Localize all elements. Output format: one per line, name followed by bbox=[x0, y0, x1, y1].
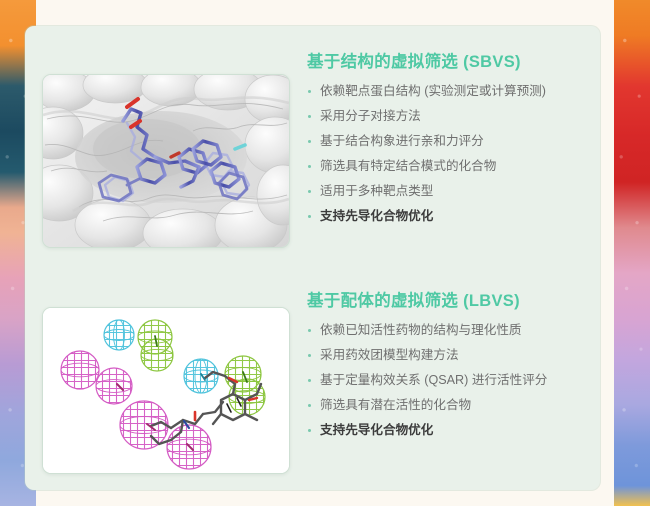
list-item: 采用药效团模型构建方法 bbox=[307, 349, 597, 362]
list-item: 筛选具有特定结合模式的化合物 bbox=[307, 160, 597, 173]
list-item: 适用于多种靶点类型 bbox=[307, 185, 597, 198]
pharmacophore-model-image bbox=[42, 307, 290, 474]
sbvs-heading: 基于结构的虚拟筛选 (SBVS) bbox=[307, 48, 597, 72]
lbvs-heading: 基于配体的虚拟筛选 (LBVS) bbox=[307, 287, 597, 311]
list-item: 采用分子对接方法 bbox=[307, 110, 597, 123]
list-item: 基于结合构象进行亲和力评分 bbox=[307, 135, 597, 148]
lbvs-text-block: 基于配体的虚拟筛选 (LBVS) 依赖已知活性药物的结构与理化性质 采用药效团模… bbox=[307, 287, 597, 449]
sbvs-bullet-list: 依赖靶点蛋白结构 (实验测定或计算预测) 采用分子对接方法 基于结合构象进行亲和… bbox=[307, 85, 597, 223]
list-item: 依赖已知活性药物的结构与理化性质 bbox=[307, 324, 597, 337]
protein-ligand-docking-image bbox=[42, 74, 290, 248]
list-item: 支持先导化合物优化 bbox=[307, 210, 597, 223]
list-item: 支持先导化合物优化 bbox=[307, 424, 597, 437]
list-item: 筛选具有潜在活性的化合物 bbox=[307, 399, 597, 412]
list-item: 基于定量构效关系 (QSAR) 进行活性评分 bbox=[307, 374, 597, 387]
content-card: 基于结构的虚拟筛选 (SBVS) 依赖靶点蛋白结构 (实验测定或计算预测) 采用… bbox=[25, 26, 600, 490]
right-decorative-gradient-strip bbox=[614, 0, 650, 506]
list-item: 依赖靶点蛋白结构 (实验测定或计算预测) bbox=[307, 85, 597, 98]
sbvs-text-block: 基于结构的虚拟筛选 (SBVS) 依赖靶点蛋白结构 (实验测定或计算预测) 采用… bbox=[307, 48, 597, 236]
lbvs-bullet-list: 依赖已知活性药物的结构与理化性质 采用药效团模型构建方法 基于定量构效关系 (Q… bbox=[307, 324, 597, 437]
